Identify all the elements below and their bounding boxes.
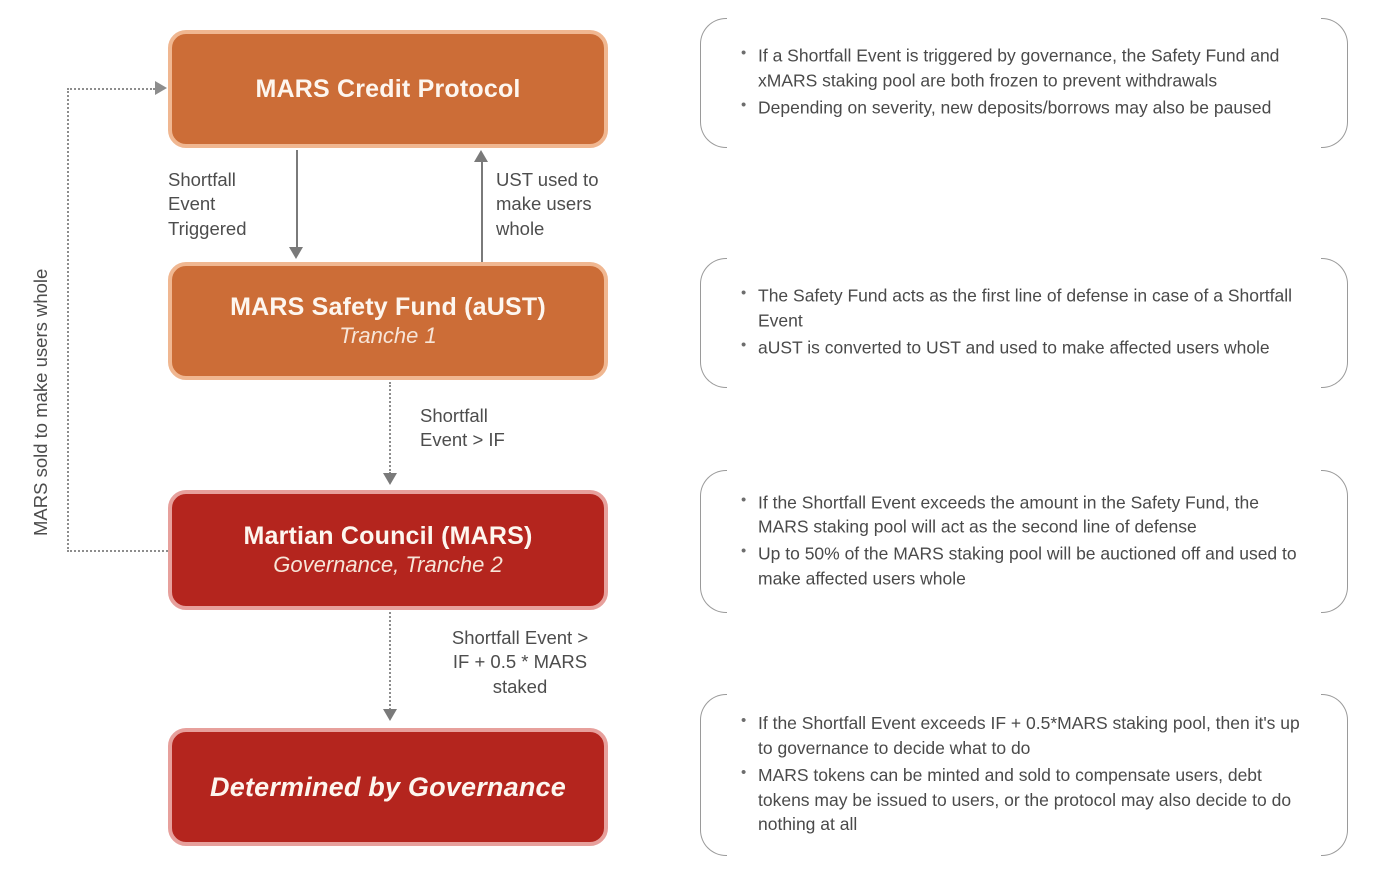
- diagram-canvas: MARS Credit Protocol MARS Safety Fund (a…: [0, 0, 1398, 890]
- node-safety-fund-subtitle: Tranche 1: [339, 323, 436, 348]
- panel-martian-council-list: If the Shortfall Event exceeds the amoun…: [700, 490, 1348, 593]
- edge-arrow-shortfall-gt-if: [383, 473, 397, 485]
- list-item: Up to 50% of the MARS staking pool will …: [758, 542, 1308, 592]
- edge-line-mars-sold-top: [67, 88, 155, 90]
- edge-label-mars-sold: MARS sold to make users whole: [30, 269, 52, 536]
- edge-line-mars-sold-bottom: [67, 550, 168, 552]
- node-martian-council-title: Martian Council (MARS): [243, 522, 532, 550]
- node-credit-protocol[interactable]: MARS Credit Protocol: [168, 30, 608, 148]
- node-safety-fund-title: MARS Safety Fund (aUST): [230, 293, 546, 321]
- edge-line-shortfall-gt-if: [389, 382, 391, 474]
- list-item: aUST is converted to UST and used to mak…: [758, 335, 1308, 360]
- list-item: If the Shortfall Event exceeds IF + 0.5*…: [758, 711, 1308, 761]
- node-safety-fund[interactable]: MARS Safety Fund (aUST) Tranche 1: [168, 262, 608, 380]
- panel-martian-council: If the Shortfall Event exceeds the amoun…: [700, 470, 1348, 613]
- panel-credit-protocol: If a Shortfall Event is triggered by gov…: [700, 18, 1348, 148]
- edge-arrow-ust-used: [474, 150, 488, 162]
- list-item: If the Shortfall Event exceeds the amoun…: [758, 490, 1308, 540]
- node-determined-by-governance[interactable]: Determined by Governance: [168, 728, 608, 846]
- list-item: MARS tokens can be minted and sold to co…: [758, 763, 1308, 838]
- list-item: Depending on severity, new deposits/borr…: [758, 95, 1308, 120]
- node-determined-by-governance-title: Determined by Governance: [210, 772, 566, 802]
- node-credit-protocol-title: MARS Credit Protocol: [255, 75, 520, 103]
- panel-safety-fund: The Safety Fund acts as the first line o…: [700, 258, 1348, 388]
- list-item: The Safety Fund acts as the first line o…: [758, 284, 1308, 334]
- panel-governance-list: If the Shortfall Event exceeds IF + 0.5*…: [700, 711, 1348, 839]
- edge-label-ust-used: UST used to make users whole: [496, 168, 626, 241]
- edge-label-shortfall-gt-if-half-mars: Shortfall Event > IF + 0.5 * MARS staked: [420, 626, 620, 699]
- edge-line-ust-used: [481, 162, 483, 262]
- edge-arrow-mars-sold: [155, 81, 167, 95]
- list-item: If a Shortfall Event is triggered by gov…: [758, 44, 1308, 94]
- panel-credit-protocol-list: If a Shortfall Event is triggered by gov…: [700, 44, 1348, 123]
- node-martian-council[interactable]: Martian Council (MARS) Governance, Tranc…: [168, 490, 608, 610]
- edge-label-shortfall-triggered: Shortfall Event Triggered: [168, 168, 288, 241]
- edge-arrow-shortfall-gt-if-half-mars: [383, 709, 397, 721]
- node-martian-council-subtitle: Governance, Tranche 2: [273, 552, 503, 577]
- edge-arrow-shortfall-triggered: [289, 247, 303, 259]
- panel-safety-fund-list: The Safety Fund acts as the first line o…: [700, 284, 1348, 363]
- edge-line-shortfall-triggered: [296, 150, 298, 248]
- edge-line-shortfall-gt-if-half-mars: [389, 612, 391, 710]
- edge-line-mars-sold-vertical: [67, 88, 69, 552]
- edge-label-shortfall-gt-if: Shortfall Event > IF: [420, 404, 600, 453]
- panel-governance: If the Shortfall Event exceeds IF + 0.5*…: [700, 694, 1348, 856]
